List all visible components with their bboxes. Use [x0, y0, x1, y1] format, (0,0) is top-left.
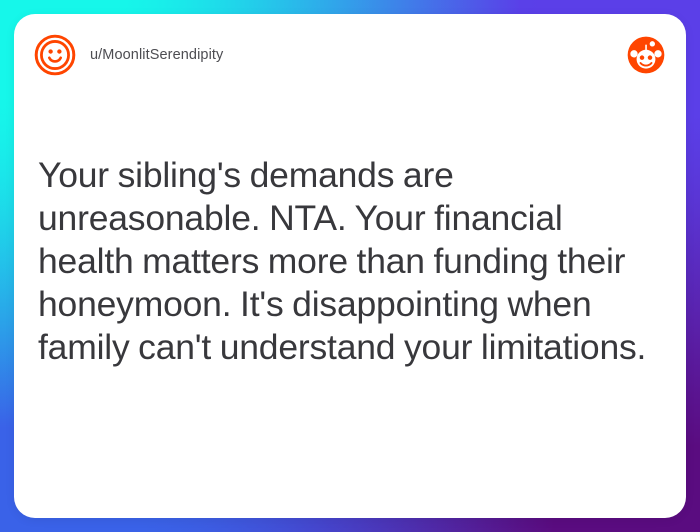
smiley-face-avatar-icon[interactable] [34, 34, 76, 76]
reddit-snoo-logo-icon[interactable] [626, 35, 666, 75]
post-body-text: Your sibling's demands are unreasonable.… [38, 154, 662, 369]
screenshot-root: u/MoonlitSerendipity Your sibling's dema… [0, 0, 700, 532]
reddit-post-card: u/MoonlitSerendipity Your sibling's dema… [14, 14, 686, 518]
post-header: u/MoonlitSerendipity [14, 32, 686, 78]
post-username[interactable]: u/MoonlitSerendipity [90, 47, 223, 63]
